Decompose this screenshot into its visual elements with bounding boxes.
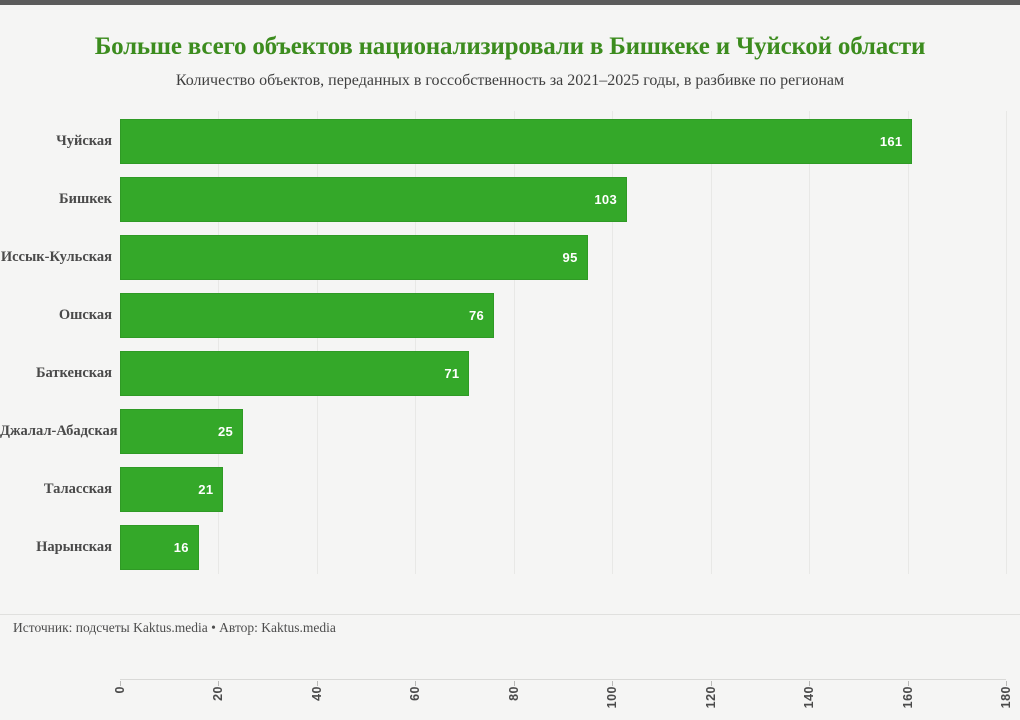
category-label: Чуйская — [0, 119, 112, 164]
bar[interactable] — [120, 177, 627, 222]
footer-separator — [0, 614, 1020, 615]
bar[interactable] — [120, 351, 469, 396]
chart-page: Больше всего объектов национализировали … — [0, 0, 1020, 650]
footer-credit: Источник: подсчеты Kaktus.media • Автор:… — [13, 620, 336, 636]
category-label: Баткенская — [0, 351, 112, 396]
category-label: Нарынская — [0, 525, 112, 570]
bar-value-label: 103 — [594, 177, 617, 222]
bar-row: Таласская21 — [0, 467, 1020, 512]
bar-row: Баткенская71 — [0, 351, 1020, 396]
bar-value-label: 71 — [444, 351, 459, 396]
bar-row: Джалал-Абадская25 — [0, 409, 1020, 454]
bar-value-label: 161 — [880, 119, 903, 164]
category-label: Иссык-Кульская — [0, 235, 112, 280]
chart-header: Больше всего объектов национализировали … — [0, 5, 1020, 90]
bar-row: Ошская76 — [0, 293, 1020, 338]
bar-row: Иссык-Кульская95 — [0, 235, 1020, 280]
bar-row: Нарынская16 — [0, 525, 1020, 570]
plot-wrapper: Чуйская161Бишкек103Иссык-Кульская95Ошска… — [0, 108, 1020, 578]
bar-value-label: 25 — [218, 409, 233, 454]
bar[interactable] — [120, 119, 912, 164]
bar-value-label: 95 — [563, 235, 578, 280]
bar-value-label: 21 — [198, 467, 213, 512]
category-label: Таласская — [0, 467, 112, 512]
category-label: Бишкек — [0, 177, 112, 222]
bar-value-label: 16 — [174, 525, 189, 570]
bar[interactable] — [120, 293, 494, 338]
x-axis-baseline — [120, 679, 1006, 680]
chart-subtitle: Количество объектов, переданных в госсоб… — [0, 71, 1020, 90]
category-label: Ошская — [0, 293, 112, 338]
chart-title: Больше всего объектов национализировали … — [0, 33, 1020, 61]
category-label: Джалал-Абадская — [0, 409, 112, 454]
bar-value-label: 76 — [469, 293, 484, 338]
bar[interactable] — [120, 235, 588, 280]
bar-row: Чуйская161 — [0, 119, 1020, 164]
bar-row: Бишкек103 — [0, 177, 1020, 222]
